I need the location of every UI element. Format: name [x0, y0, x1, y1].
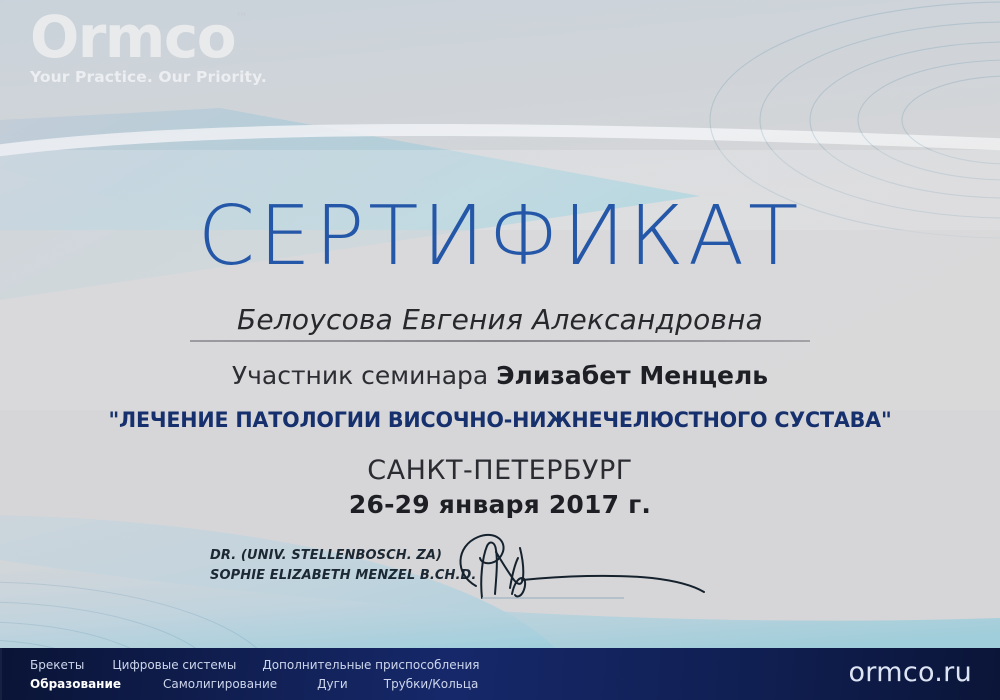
logo-word-text: Ormco — [30, 3, 235, 71]
footer-link-3[interactable]: Дуги — [317, 677, 348, 691]
date-label: 26-29 января 2017 г. — [0, 490, 1000, 519]
trademark-icon: ™ — [235, 12, 248, 25]
footer-nav-row-2: ОбразованиеСамолигированиеДугиТрубки/Кол… — [30, 674, 479, 693]
footer-band: БрекетыЦифровые системыДополнительные пр… — [0, 648, 1000, 700]
city-label: САНКТ-ПЕТЕРБУРГ — [0, 455, 1000, 486]
recipient-name: Белоусова Евгения Александровна — [190, 303, 810, 336]
signatory-name: SOPHIE ELIZABETH MENZEL B.CH.D. — [210, 566, 530, 586]
signatory-credential: DR. (UNIV. STELLENBOSCH. ZA) — [210, 546, 530, 566]
footer-nav-row-1: БрекетыЦифровые системыДополнительные пр… — [30, 655, 479, 674]
course-title: "ЛЕЧЕНИЕ ПАТОЛОГИИ ВИСОЧНО-НИЖНЕЧЕЛЮСТНО… — [20, 408, 980, 433]
footer-link-1[interactable]: Брекеты — [30, 658, 84, 672]
seminar-line: Участник семинара Элизабет Менцель — [0, 361, 1000, 390]
footer-link-2[interactable]: Цифровые системы — [112, 658, 236, 672]
footer-link-4[interactable]: Трубки/Кольца — [384, 677, 479, 691]
footer-link-2[interactable]: Самолигирование — [163, 677, 277, 691]
recipient-underline — [190, 340, 810, 342]
footer-link-1[interactable]: Образование — [30, 677, 121, 691]
footer-link-3[interactable]: Дополнительные приспособления — [262, 658, 479, 672]
lecturer-name: Элизабет Менцель — [496, 361, 768, 390]
signatory-block: DR. (UNIV. STELLENBOSCH. ZA) SOPHIE ELIZ… — [210, 546, 530, 586]
certificate-content: Ormco ™ Your Practice. Our Priority. СЕР… — [0, 0, 1000, 648]
certificate-document: Ormco ™ Your Practice. Our Priority. СЕР… — [0, 0, 1000, 700]
footer-nav: БрекетыЦифровые системыДополнительные пр… — [30, 655, 479, 693]
recipient-block: Белоусова Евгения Александровна — [190, 303, 810, 342]
website-url[interactable]: ormco.ru — [848, 657, 972, 688]
seminar-prefix: Участник семинара — [232, 361, 496, 390]
ormco-logo: Ormco ™ Your Practice. Our Priority. — [30, 8, 267, 86]
page-title: СЕРТИФИКАТ — [0, 196, 1000, 278]
logo-wordmark: Ormco ™ — [30, 8, 235, 66]
